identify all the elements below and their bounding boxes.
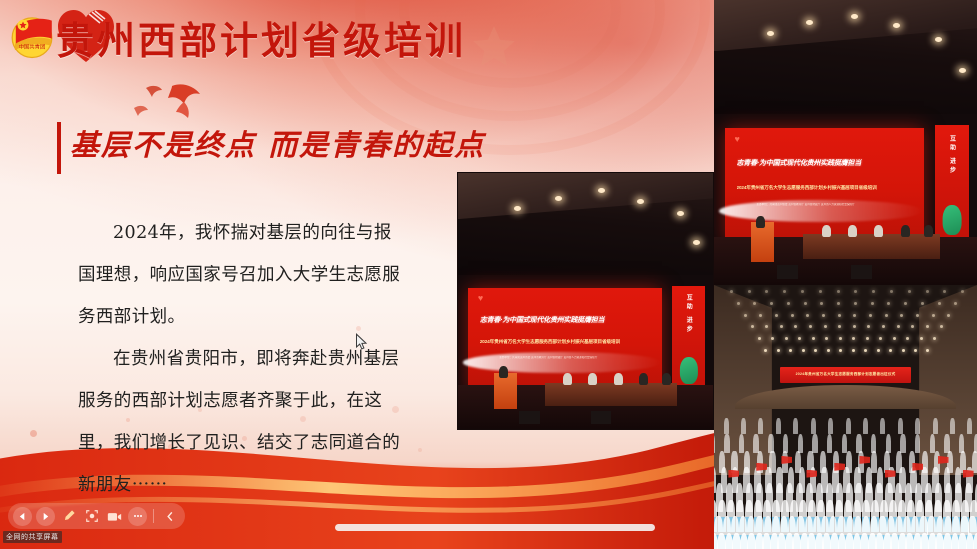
led-subhead: 2024年贵州省万名大学生志愿服务西部计划乡村振兴基层项目省级培训 bbox=[737, 185, 915, 191]
slide-body: 2024年，我怀揣对基层的向往与报国理想，响应国家号召加入大学生志愿服务西部计划… bbox=[78, 212, 408, 506]
annotation-toolbar[interactable] bbox=[8, 503, 185, 529]
side-banner: 互助 进步 bbox=[935, 125, 969, 239]
hall-banner-text: 2024年贵州省万名大学生志愿服务西部计划志愿者出征仪式 bbox=[780, 367, 912, 383]
conference-stage-photo[interactable]: ♥ 志青春·为中国式现代化贵州实践挺膺担当 2024年贵州省万名大学生志愿服务西… bbox=[457, 172, 714, 430]
collapse-toolbar-button[interactable] bbox=[160, 507, 179, 526]
more-options-button[interactable] bbox=[128, 507, 147, 526]
slide-paragraph-2: 在贵州省贵阳市，即将奔赴贵州基层服务的西部计划志愿者齐聚于此，在这里，我们增长了… bbox=[78, 338, 408, 506]
star-watermark-icon bbox=[468, 22, 520, 72]
led-heart-icon: ♥ bbox=[478, 294, 495, 308]
led-heart-icon: ♥ bbox=[735, 135, 753, 151]
led-headline: 志青春·为中国式现代化贵州实践挺膺担当 bbox=[737, 158, 913, 168]
communist-youth-league-emblem-icon: 中国共青团 bbox=[5, 8, 59, 62]
participant-video-group-photo[interactable]: 2024年贵州省万名大学生志愿服务西部计划志愿者出征仪式 bbox=[714, 285, 977, 549]
led-subhead: 2024年贵州省万名大学生志愿服务西部计划乡村振兴基层项目省级培训 bbox=[480, 339, 652, 345]
pen-annotate-button[interactable] bbox=[59, 507, 78, 526]
screen-share-watermark: 全网的共享屏幕 bbox=[3, 531, 62, 543]
participant-video-stage[interactable]: ♥ 志青春·为中国式现代化贵州实践挺膺担当 2024年贵州省万名大学生志愿服务西… bbox=[714, 0, 977, 285]
previous-slide-button[interactable] bbox=[13, 507, 32, 526]
led-headline: 志青春·为中国式现代化贵州实践挺膺担当 bbox=[480, 315, 651, 325]
mouse-cursor bbox=[355, 333, 368, 351]
volunteer-crowd bbox=[714, 412, 977, 549]
subtitle-rule bbox=[57, 122, 61, 174]
slide-subtitle: 基层不是终点 而是青春的起点 bbox=[70, 127, 485, 163]
mascot-icon bbox=[680, 357, 698, 384]
ceiling-lights bbox=[730, 290, 961, 359]
record-video-button[interactable] bbox=[105, 507, 124, 526]
spotlight-button[interactable] bbox=[82, 507, 101, 526]
shared-slide[interactable]: 中国共青团 贵州西部计划省级培训 基层不是终点 而是青春的起点 2024年，我怀… bbox=[0, 0, 714, 549]
slide-paragraph-1: 2024年，我怀揣对基层的向往与报国理想，响应国家号召加入大学生志愿服务西部计划… bbox=[78, 212, 408, 338]
hall-banner: 2024年贵州省万名大学生志愿服务西部计划志愿者出征仪式 bbox=[780, 367, 912, 383]
side-banner: 互助 进步 bbox=[672, 286, 705, 388]
side-banner-text: 互助 进步 bbox=[948, 135, 957, 176]
dove-decoration-icon bbox=[128, 78, 238, 124]
screen-share-viewport: 中国共青团 贵州西部计划省级培训 基层不是终点 而是青春的起点 2024年，我怀… bbox=[0, 0, 977, 549]
mascot-icon bbox=[943, 205, 962, 235]
horizontal-scrollbar[interactable] bbox=[335, 524, 655, 531]
next-slide-button[interactable] bbox=[36, 507, 55, 526]
svg-text:中国共青团: 中国共青团 bbox=[19, 43, 46, 51]
slide-title: 贵州西部计划省级培训 bbox=[56, 22, 466, 60]
side-banner-text: 互助 进步 bbox=[684, 294, 693, 335]
